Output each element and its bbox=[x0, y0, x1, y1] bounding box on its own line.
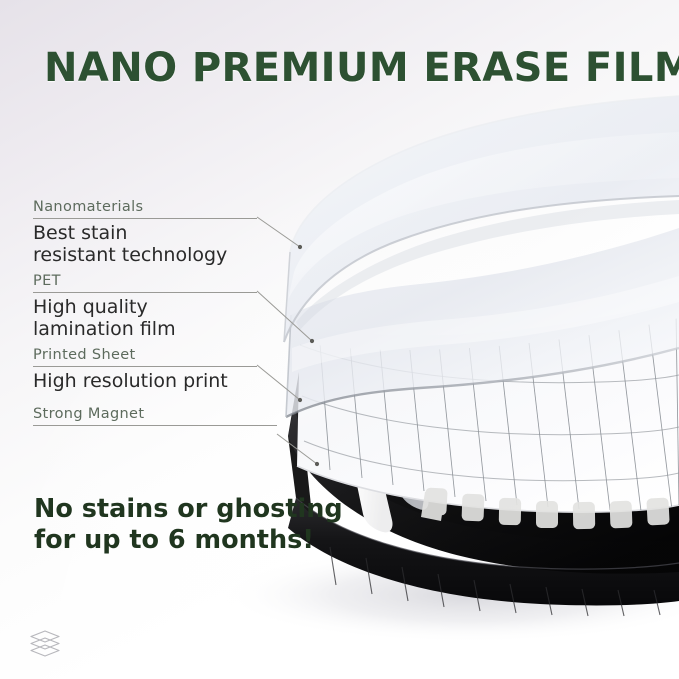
layer-printed-sheet bbox=[297, 300, 679, 529]
callout-rule-printed-sheet bbox=[33, 366, 257, 367]
page-title: NANO PREMIUM ERASE FILM bbox=[44, 47, 644, 90]
callout-printed-sheet: Printed Sheet High resolution print bbox=[33, 346, 257, 392]
callout-rule-strong-magnet bbox=[33, 425, 277, 426]
callout-strong-magnet: Strong Magnet bbox=[33, 405, 277, 426]
callout-label-printed-sheet: Printed Sheet bbox=[33, 346, 257, 364]
stacked-layers-logo bbox=[28, 628, 62, 658]
sheet-note-boxes bbox=[421, 487, 670, 529]
callout-rule-nanomaterials bbox=[33, 218, 257, 219]
layer-strong-magnet bbox=[288, 372, 679, 616]
callout-label-pet: PET bbox=[33, 272, 257, 290]
magnet-gray-strip bbox=[367, 346, 428, 510]
tagline: No stains or ghosting for up to 6 months… bbox=[34, 494, 343, 555]
infographic-canvas: NANO PREMIUM ERASE FILM Nanomaterials Be… bbox=[0, 0, 679, 679]
layer-nanomaterials-film bbox=[284, 96, 679, 342]
callout-rule-pet bbox=[33, 292, 257, 293]
callout-pet: PET High quality lamination film bbox=[33, 272, 257, 340]
callout-desc-nanomaterials: Best stain resistant technology bbox=[33, 222, 257, 266]
callout-label-strong-magnet: Strong Magnet bbox=[33, 405, 277, 423]
callout-nanomaterials: Nanomaterials Best stain resistant techn… bbox=[33, 198, 257, 266]
layer-pet-film bbox=[286, 228, 679, 417]
callout-label-nanomaterials: Nanomaterials bbox=[33, 198, 257, 216]
callout-desc-printed-sheet: High resolution print bbox=[33, 370, 257, 392]
callout-desc-pet: High quality lamination film bbox=[33, 296, 257, 340]
